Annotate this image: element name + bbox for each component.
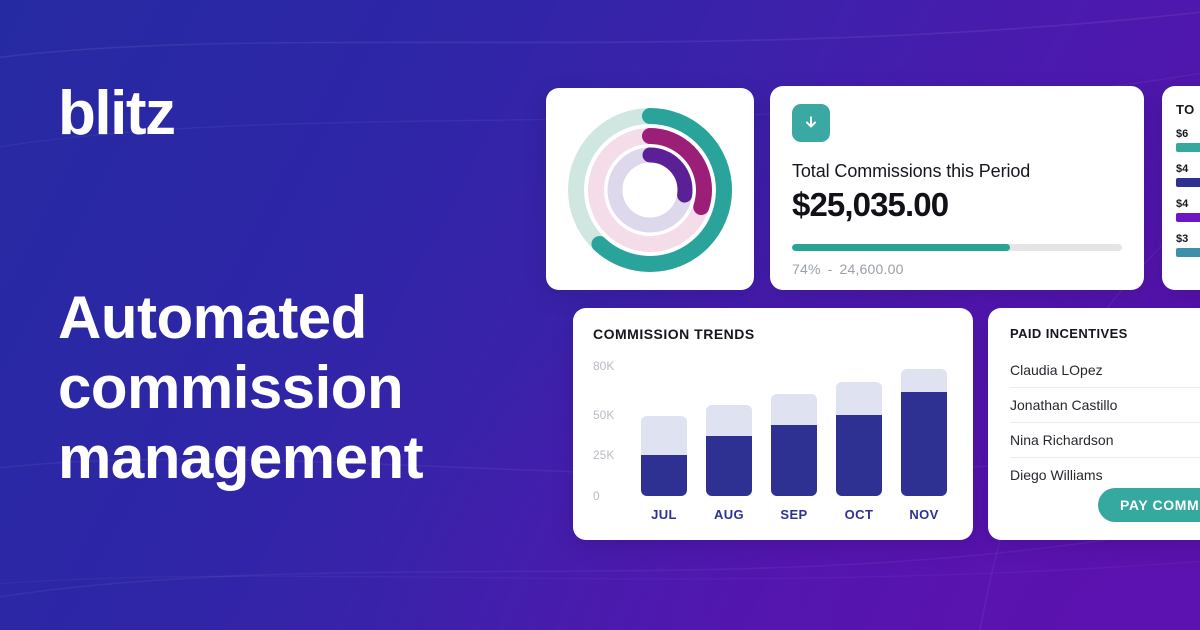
legend-row: $6 xyxy=(1176,128,1200,152)
progress-amount: 24,600.00 xyxy=(840,261,904,277)
progress-percent: 74% xyxy=(792,261,821,277)
bar-segment-paid xyxy=(836,415,882,496)
legend-amount: $4 xyxy=(1176,198,1200,210)
headline-line-2: commission xyxy=(58,353,578,423)
bar-column[interactable] xyxy=(706,405,752,496)
totals-legend-card: TO $6 $4 $4 $3 xyxy=(1162,86,1200,290)
list-item[interactable]: Nina Richardson xyxy=(1010,423,1200,458)
y-axis-tick: 25K xyxy=(593,448,614,462)
stacked-bar xyxy=(641,416,687,496)
x-axis-label: SEP xyxy=(771,507,817,522)
legend-color-bar xyxy=(1176,213,1200,222)
y-axis-tick: 50K xyxy=(593,408,614,422)
bar-column[interactable] xyxy=(641,416,687,496)
stacked-bar xyxy=(901,369,947,496)
stacked-bar xyxy=(771,394,817,496)
x-axis-label: OCT xyxy=(836,507,882,522)
pay-commissions-button[interactable]: PAY COMMISSIONS xyxy=(1098,488,1200,522)
bar-segment-paid xyxy=(641,455,687,496)
bar-segment-pending xyxy=(836,382,882,414)
legend-amount: $3 xyxy=(1176,233,1200,245)
legend-row: $4 xyxy=(1176,163,1200,187)
bar-segment-pending xyxy=(901,369,947,392)
bar-segment-pending xyxy=(706,405,752,436)
headline-line-1: Automated xyxy=(58,283,578,353)
progress-bar-fill xyxy=(792,244,1010,251)
list-item[interactable]: Jonathan Castillo xyxy=(1010,388,1200,423)
bar-segment-paid xyxy=(706,436,752,496)
stacked-bar xyxy=(706,405,752,496)
legend-amount: $6 xyxy=(1176,128,1200,140)
list-item[interactable]: Diego Williams xyxy=(1010,458,1200,492)
bar-column[interactable] xyxy=(901,369,947,496)
bar-column[interactable] xyxy=(836,382,882,496)
total-commissions-value: $25,035.00 xyxy=(792,186,1122,224)
bar-chart: 025K50K80K JULAUGSEPOCTNOV xyxy=(593,358,953,530)
totals-legend-title: TO xyxy=(1176,102,1200,117)
headline-line-3: management xyxy=(58,423,578,493)
list-item[interactable]: Claudia LOpez xyxy=(1010,353,1200,388)
progress-caption: 74%-24,600.00 xyxy=(792,261,1122,277)
download-icon[interactable] xyxy=(792,104,830,142)
multi-ring-donut-chart xyxy=(564,104,736,276)
legend-color-bar xyxy=(1176,248,1200,257)
legend-row: $4 xyxy=(1176,198,1200,222)
total-commissions-card: Total Commissions this Period $25,035.00… xyxy=(770,86,1144,290)
bar-segment-pending xyxy=(641,416,687,455)
commission-trends-card: COMMISSION TRENDS 025K50K80K JULAUGSEPOC… xyxy=(573,308,973,540)
bar-series xyxy=(641,358,947,496)
bar-segment-paid xyxy=(771,425,817,496)
stacked-bar xyxy=(836,382,882,496)
paid-incentives-card: PAID INCENTIVES Claudia LOpezJonathan Ca… xyxy=(988,308,1200,540)
legend-color-bar xyxy=(1176,143,1200,152)
bar-segment-paid xyxy=(901,392,947,496)
paid-incentives-title: PAID INCENTIVES xyxy=(1010,326,1200,341)
blitz-logo: blitz xyxy=(58,83,174,145)
y-axis-tick: 0 xyxy=(593,489,600,503)
legend-amount: $4 xyxy=(1176,163,1200,175)
donut-chart-card xyxy=(546,88,754,290)
y-axis-tick: 80K xyxy=(593,359,614,373)
legend-row: $3 xyxy=(1176,233,1200,257)
page-title: Automated commission management xyxy=(58,283,578,494)
x-axis-label: JUL xyxy=(641,507,687,522)
caption-separator: - xyxy=(821,261,840,277)
legend-color-bar xyxy=(1176,178,1200,187)
bar-segment-pending xyxy=(771,394,817,425)
hero-banner: blitz Automated commission management To… xyxy=(0,0,1200,630)
x-axis-labels: JULAUGSEPOCTNOV xyxy=(641,507,947,522)
x-axis-label: NOV xyxy=(901,507,947,522)
progress-bar-track xyxy=(792,244,1122,251)
bar-column[interactable] xyxy=(771,394,817,496)
x-axis-label: AUG xyxy=(706,507,752,522)
paid-incentives-list: Claudia LOpezJonathan CastilloNina Richa… xyxy=(1010,353,1200,492)
total-commissions-label: Total Commissions this Period xyxy=(792,161,1122,182)
commission-trends-title: COMMISSION TRENDS xyxy=(593,326,953,342)
